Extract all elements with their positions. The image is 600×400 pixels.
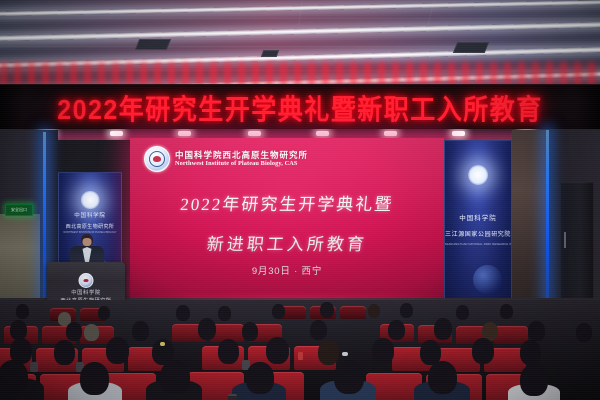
downlight [452, 131, 465, 136]
audience-head [372, 338, 394, 364]
banner-edge-shadow-left [0, 85, 24, 131]
screen-logo-en: Northwest Institute of Plateau Biology, … [175, 160, 308, 167]
downlight [316, 131, 329, 136]
audience-head [218, 306, 231, 321]
exit-sign-label: 安全出口 [11, 208, 27, 212]
audience-head [54, 340, 75, 365]
audience-head [520, 340, 541, 365]
audience-head [310, 320, 327, 340]
moon-glow-icon [468, 165, 488, 185]
exit-sign: 安全出口 [5, 204, 33, 216]
banner-edge-shadow-right [576, 85, 600, 131]
door-handle[interactable] [564, 232, 566, 248]
audience-head [246, 362, 274, 394]
audience-head [132, 321, 149, 341]
audience-head [84, 324, 99, 341]
screen-title-line1: 2022年研究生开学典礼暨 [130, 190, 444, 215]
audience-area [0, 300, 600, 400]
audience-head [198, 318, 216, 340]
audience-head [242, 322, 258, 341]
side-banner-right: 中国科学院 三江源国家公园研究院 SANJIANGYUAN NATIONAL P… [444, 140, 512, 312]
led-scrolling-banner: 2022年研究生开学典礼暨新职工入所教育 [0, 84, 600, 132]
side-banner-right-cn2: 三江源国家公园研究院 [445, 229, 511, 238]
audience-head [176, 305, 190, 321]
ceiling [0, 0, 600, 92]
drink-cup [228, 394, 237, 400]
blue-led-strip-left [43, 132, 46, 310]
audience-head [98, 306, 110, 320]
downlight [110, 131, 123, 136]
ceiling-vent [261, 50, 280, 57]
ceiling-vent [453, 42, 489, 53]
hair-tie [160, 342, 165, 346]
screen-date-location: 9月30日 · 西宁 [130, 263, 444, 277]
audience-head [434, 318, 452, 340]
audience-head [266, 337, 289, 364]
audience-head [388, 320, 405, 340]
audience-head [218, 339, 239, 364]
audience-head [272, 304, 285, 319]
audience-head [520, 364, 548, 396]
audience-head [66, 322, 82, 341]
audience-head [320, 302, 334, 318]
audience-head [528, 321, 545, 341]
screen-title-block: 2022年研究生开学典礼暨 新进职工入所教育 [130, 190, 444, 255]
audience-head [160, 360, 190, 394]
blue-led-strip-right [546, 130, 549, 316]
audience-head [16, 304, 29, 319]
podium-label-line1: 中国科学院 [47, 288, 125, 296]
ceiling-vent [135, 39, 171, 50]
planet-graphic [473, 265, 502, 294]
ceiling-light-strip [0, 22, 600, 42]
audience-head [0, 360, 28, 394]
cas-institute-emblem-icon [144, 146, 170, 172]
audience-head [106, 337, 129, 364]
audience-head [400, 303, 413, 318]
side-banner-left-cn2: 西北高原生物研究所 [59, 223, 121, 230]
audience-head [500, 304, 513, 319]
moon-glow-icon [81, 191, 100, 210]
side-banner-right-en: SANJIANGYUAN NATIONAL PARK RESEARCH INST… [445, 243, 511, 246]
phone-screen [298, 352, 303, 360]
audience-head [576, 323, 592, 342]
downlight [178, 131, 191, 136]
ceiling-seam [298, 0, 303, 26]
audience-head [318, 340, 339, 365]
screen-logo-cn: 中国科学院西北高原生物研究所 [175, 151, 308, 161]
side-banner-left-cn1: 中国科学院 [59, 211, 121, 219]
stage-led-screen: 中国科学院西北高原生物研究所 Northwest Institute of Pl… [130, 138, 444, 302]
audience-head [428, 361, 457, 394]
audience-head [368, 304, 380, 318]
screen-title-line2: 新进职工入所教育 [130, 230, 444, 255]
left-wall-panel [0, 214, 40, 298]
downlight [384, 131, 397, 136]
podium-emblem-icon [79, 273, 94, 288]
face-mask [342, 352, 348, 356]
speaker-face [83, 238, 92, 246]
audience-head [472, 338, 494, 364]
auditorium-photo: 2022年研究生开学典礼暨新职工入所教育 安全出口 中国科学院 西北高原生物研究… [0, 0, 600, 400]
audience-head [80, 362, 109, 395]
side-banner-right-cn1: 中国科学院 [445, 212, 511, 222]
downlight [248, 131, 261, 136]
led-banner-text: 2022年研究生开学典礼暨新职工入所教育 [57, 88, 543, 128]
auditorium-door[interactable] [560, 182, 594, 314]
audience-head [456, 305, 469, 320]
screen-institute-logo: 中国科学院西北高原生物研究所 Northwest Institute of Pl… [144, 146, 308, 172]
audience-head [334, 360, 364, 394]
audience-head [10, 320, 27, 340]
